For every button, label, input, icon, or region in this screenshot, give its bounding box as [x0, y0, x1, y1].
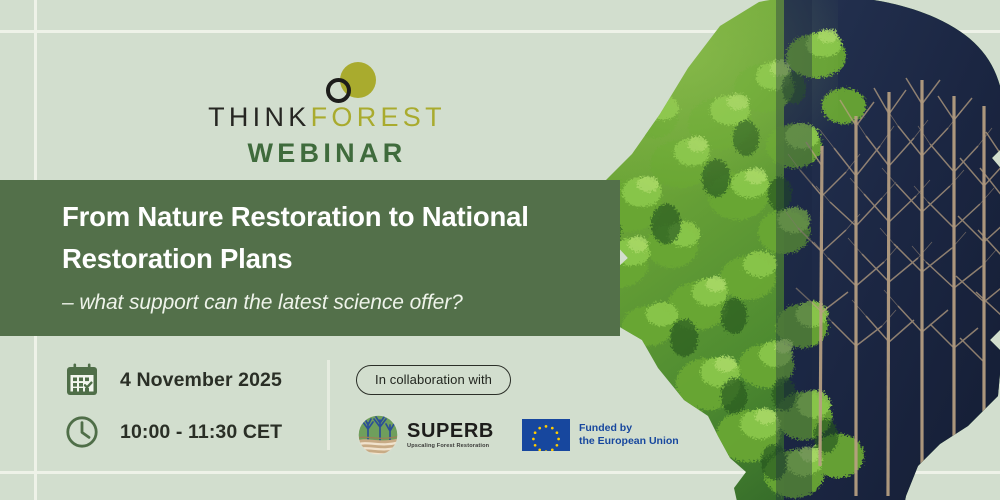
calendar-icon	[64, 362, 100, 398]
logo-word-forest: FOREST	[311, 102, 446, 132]
section-divider	[327, 360, 330, 450]
eu-flag-icon	[522, 419, 570, 451]
title-banner-content: From Nature Restoration to National Rest…	[62, 196, 622, 316]
event-time-row: 10:00 - 11:30 CET	[64, 410, 282, 454]
superb-text: SUPERB Upscaling Forest Restoration	[407, 421, 494, 449]
webinar-subtitle: – what support can the latest science of…	[62, 290, 622, 316]
superb-tagline: Upscaling Forest Restoration	[407, 443, 494, 449]
collaboration-section: In collaboration with	[356, 365, 679, 457]
logo-wordmark-top: THINKFOREST	[207, 102, 447, 133]
logo-word-webinar: WEBINAR	[207, 138, 447, 169]
partner-european-union: Funded by the European Union	[522, 419, 679, 451]
webinar-title-line-2: Restoration Plans	[62, 238, 622, 280]
partner-logos: SUPERB Upscaling Forest Restoration	[356, 413, 679, 457]
partner-superb: SUPERB Upscaling Forest Restoration	[356, 413, 494, 457]
webinar-title-line-1: From Nature Restoration to National	[62, 196, 622, 238]
collaboration-pill: In collaboration with	[356, 365, 511, 395]
event-time: 10:00 - 11:30 CET	[120, 421, 282, 444]
logo-word-think: THINK	[208, 102, 311, 132]
eu-funding-line-1: Funded by	[579, 422, 679, 435]
thinkforest-logo: THINKFOREST WEBINAR	[207, 58, 447, 163]
webinar-promo-banner: From Nature Restoration to National Rest…	[0, 0, 1000, 500]
event-meta: 4 November 2025 10:00 - 11:30 CET	[64, 358, 282, 462]
dark-ring-icon	[326, 78, 351, 103]
webinar-title: From Nature Restoration to National Rest…	[62, 196, 622, 280]
event-date: 4 November 2025	[120, 369, 282, 392]
eu-funding-text: Funded by the European Union	[579, 422, 679, 448]
superb-tree-roots-emblem-icon	[356, 413, 400, 457]
event-date-row: 4 November 2025	[64, 358, 282, 402]
superb-name: SUPERB	[407, 421, 494, 441]
eu-funding-line-2: the European Union	[579, 435, 679, 448]
clock-icon	[64, 414, 100, 450]
